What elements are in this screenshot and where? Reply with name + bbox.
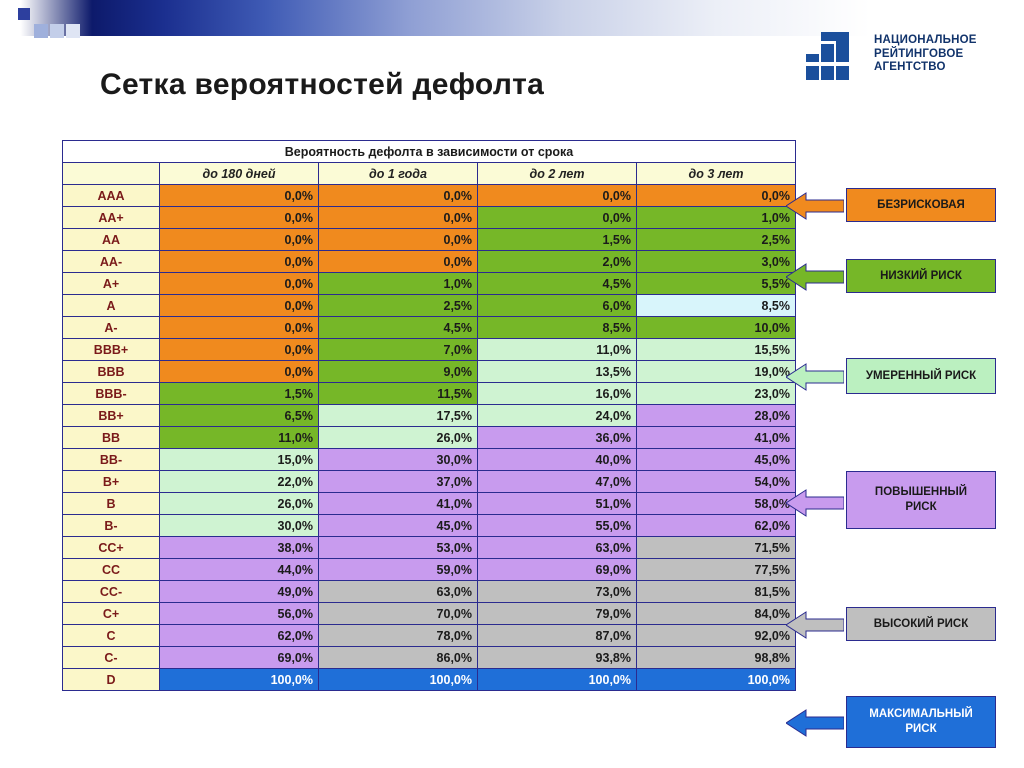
probability-cell: 54,0% xyxy=(637,471,796,493)
probability-cell: 3,0% xyxy=(637,251,796,273)
legend-arrow-icon xyxy=(786,262,844,292)
probability-cell: 36,0% xyxy=(478,427,637,449)
probability-cell: 0,0% xyxy=(160,251,319,273)
probability-cell: 100,0% xyxy=(319,669,478,691)
rating-cell: CC- xyxy=(63,581,160,603)
probability-cell: 100,0% xyxy=(160,669,319,691)
probability-cell: 11,5% xyxy=(319,383,478,405)
probability-cell: 58,0% xyxy=(637,493,796,515)
rating-cell: BBB+ xyxy=(63,339,160,361)
rating-cell: CC+ xyxy=(63,537,160,559)
probability-cell: 81,5% xyxy=(637,581,796,603)
table-row: AA+0,0%0,0%0,0%1,0% xyxy=(63,207,796,229)
legend-label: БЕЗРИСКОВАЯ xyxy=(877,198,965,213)
legend-arrow-icon xyxy=(786,191,844,221)
probability-cell: 26,0% xyxy=(319,427,478,449)
decor-square-3 xyxy=(50,24,64,38)
legend-label: МАКСИМАЛЬНЫЙРИСК xyxy=(869,707,973,737)
probability-cell: 0,0% xyxy=(478,207,637,229)
table-row: CC44,0%59,0%69,0%77,5% xyxy=(63,559,796,581)
rating-cell: C xyxy=(63,625,160,647)
probability-cell: 11,0% xyxy=(478,339,637,361)
probability-cell: 30,0% xyxy=(160,515,319,537)
probability-cell: 51,0% xyxy=(478,493,637,515)
probability-cell: 73,0% xyxy=(478,581,637,603)
table-row: B+22,0%37,0%47,0%54,0% xyxy=(63,471,796,493)
probability-cell: 63,0% xyxy=(319,581,478,603)
table-row: A-0,0%4,5%8,5%10,0% xyxy=(63,317,796,339)
probability-cell: 1,5% xyxy=(478,229,637,251)
legend-arrow-icon xyxy=(786,707,844,739)
table-header-row: до 180 днейдо 1 годадо 2 летдо 3 лет xyxy=(63,163,796,185)
table-row: A+0,0%1,0%4,5%5,5% xyxy=(63,273,796,295)
probability-cell: 55,0% xyxy=(478,515,637,537)
default-probability-table-wrap: Вероятность дефолта в зависимости от сро… xyxy=(62,140,796,691)
rating-cell: AA- xyxy=(63,251,160,273)
probability-cell: 24,0% xyxy=(478,405,637,427)
default-probability-table: Вероятность дефолта в зависимости от сро… xyxy=(62,140,796,691)
probability-cell: 0,0% xyxy=(160,361,319,383)
probability-cell: 7,0% xyxy=(319,339,478,361)
probability-cell: 44,0% xyxy=(160,559,319,581)
logo-line-2: РЕЙТИНГОВОЕ xyxy=(874,48,977,62)
probability-cell: 78,0% xyxy=(319,625,478,647)
rating-cell: AA+ xyxy=(63,207,160,229)
rating-cell: A- xyxy=(63,317,160,339)
table-row: CC-49,0%63,0%73,0%81,5% xyxy=(63,581,796,603)
decor-square-1 xyxy=(18,8,30,20)
column-header-2: до 1 года xyxy=(319,163,478,185)
probability-cell: 8,5% xyxy=(637,295,796,317)
probability-cell: 11,0% xyxy=(160,427,319,449)
probability-cell: 4,5% xyxy=(478,273,637,295)
probability-cell: 15,0% xyxy=(160,449,319,471)
probability-cell: 79,0% xyxy=(478,603,637,625)
decor-square-2 xyxy=(34,24,48,38)
probability-cell: 0,0% xyxy=(160,295,319,317)
probability-cell: 2,5% xyxy=(637,229,796,251)
probability-cell: 19,0% xyxy=(637,361,796,383)
probability-cell: 1,0% xyxy=(637,207,796,229)
probability-cell: 23,0% xyxy=(637,383,796,405)
legend-item-4: ПОВЫШЕННЫЙРИСК xyxy=(846,471,996,529)
probability-cell: 69,0% xyxy=(478,559,637,581)
legend-arrow-icon xyxy=(786,488,844,518)
probability-cell: 4,5% xyxy=(319,317,478,339)
legend-item-2: НИЗКИЙ РИСК xyxy=(846,259,996,293)
logo-line-3: АГЕНТСТВО xyxy=(874,61,977,75)
probability-cell: 28,0% xyxy=(637,405,796,427)
probability-cell: 0,0% xyxy=(160,273,319,295)
rating-cell: BBB xyxy=(63,361,160,383)
probability-cell: 45,0% xyxy=(319,515,478,537)
legend-item-6: МАКСИМАЛЬНЫЙРИСК xyxy=(846,696,996,748)
probability-cell: 100,0% xyxy=(637,669,796,691)
legend-arrow-icon xyxy=(786,362,844,392)
legend-label: ВЫСОКИЙ РИСК xyxy=(874,617,969,632)
probability-cell: 62,0% xyxy=(160,625,319,647)
legend-label: УМЕРЕННЫЙ РИСК xyxy=(866,369,976,384)
probability-cell: 41,0% xyxy=(319,493,478,515)
probability-cell: 1,0% xyxy=(319,273,478,295)
table-row: BB11,0%26,0%36,0%41,0% xyxy=(63,427,796,449)
table-row: CC+38,0%53,0%63,0%71,5% xyxy=(63,537,796,559)
legend-label: ПОВЫШЕННЫЙРИСК xyxy=(875,485,967,515)
probability-cell: 98,8% xyxy=(637,647,796,669)
probability-cell: 37,0% xyxy=(319,471,478,493)
table-row: A0,0%2,5%6,0%8,5% xyxy=(63,295,796,317)
rating-column-header xyxy=(63,163,160,185)
probability-cell: 16,0% xyxy=(478,383,637,405)
probability-cell: 15,5% xyxy=(637,339,796,361)
page-title: Сетка вероятностей дефолта xyxy=(100,68,544,102)
table-row: AA0,0%0,0%1,5%2,5% xyxy=(63,229,796,251)
table-row: BBB+0,0%7,0%11,0%15,5% xyxy=(63,339,796,361)
rating-cell: B- xyxy=(63,515,160,537)
table-row: AAA0,0%0,0%0,0%0,0% xyxy=(63,185,796,207)
probability-cell: 6,5% xyxy=(160,405,319,427)
logo-bars-icon xyxy=(806,32,862,82)
table-row: B-30,0%45,0%55,0%62,0% xyxy=(63,515,796,537)
probability-cell: 0,0% xyxy=(160,185,319,207)
agency-logo: НАЦИОНАЛЬНОЕ РЕЙТИНГОВОЕ АГЕНТСТВО xyxy=(806,30,1016,90)
probability-cell: 86,0% xyxy=(319,647,478,669)
probability-cell: 63,0% xyxy=(478,537,637,559)
probability-cell: 5,5% xyxy=(637,273,796,295)
rating-cell: BBB- xyxy=(63,383,160,405)
rating-cell: B xyxy=(63,493,160,515)
legend-item-1: БЕЗРИСКОВАЯ xyxy=(846,188,996,222)
probability-cell: 30,0% xyxy=(319,449,478,471)
table-row: BB-15,0%30,0%40,0%45,0% xyxy=(63,449,796,471)
probability-cell: 8,5% xyxy=(478,317,637,339)
probability-cell: 62,0% xyxy=(637,515,796,537)
table-caption-row: Вероятность дефолта в зависимости от сро… xyxy=(63,141,796,163)
probability-cell: 0,0% xyxy=(160,317,319,339)
table-row: C-69,0%86,0%93,8%98,8% xyxy=(63,647,796,669)
rating-cell: CC xyxy=(63,559,160,581)
probability-cell: 77,5% xyxy=(637,559,796,581)
rating-cell: C+ xyxy=(63,603,160,625)
probability-cell: 22,0% xyxy=(160,471,319,493)
probability-cell: 0,0% xyxy=(637,185,796,207)
probability-cell: 0,0% xyxy=(160,229,319,251)
probability-cell: 45,0% xyxy=(637,449,796,471)
probability-cell: 0,0% xyxy=(319,229,478,251)
column-header-3: до 2 лет xyxy=(478,163,637,185)
rating-cell: AAA xyxy=(63,185,160,207)
probability-cell: 10,0% xyxy=(637,317,796,339)
probability-cell: 0,0% xyxy=(160,207,319,229)
decor-square-4 xyxy=(66,24,80,38)
probability-cell: 92,0% xyxy=(637,625,796,647)
probability-cell: 13,5% xyxy=(478,361,637,383)
logo-line-1: НАЦИОНАЛЬНОЕ xyxy=(874,34,977,48)
legend-label: НИЗКИЙ РИСК xyxy=(880,269,962,284)
table-row: C+56,0%70,0%79,0%84,0% xyxy=(63,603,796,625)
probability-cell: 9,0% xyxy=(319,361,478,383)
rating-cell: A xyxy=(63,295,160,317)
rating-cell: BB- xyxy=(63,449,160,471)
probability-cell: 6,0% xyxy=(478,295,637,317)
table-row: BB+6,5%17,5%24,0%28,0% xyxy=(63,405,796,427)
probability-cell: 53,0% xyxy=(319,537,478,559)
table-row: C62,0%78,0%87,0%92,0% xyxy=(63,625,796,647)
probability-cell: 38,0% xyxy=(160,537,319,559)
probability-cell: 71,5% xyxy=(637,537,796,559)
probability-cell: 100,0% xyxy=(478,669,637,691)
probability-cell: 0,0% xyxy=(319,251,478,273)
probability-cell: 59,0% xyxy=(319,559,478,581)
probability-cell: 2,5% xyxy=(319,295,478,317)
probability-cell: 0,0% xyxy=(319,207,478,229)
rating-cell: B+ xyxy=(63,471,160,493)
rating-cell: A+ xyxy=(63,273,160,295)
table-row: AA-0,0%0,0%2,0%3,0% xyxy=(63,251,796,273)
probability-cell: 70,0% xyxy=(319,603,478,625)
rating-cell: AA xyxy=(63,229,160,251)
rating-cell: BB+ xyxy=(63,405,160,427)
legend-arrow-icon xyxy=(786,610,844,640)
logo-text: НАЦИОНАЛЬНОЕ РЕЙТИНГОВОЕ АГЕНТСТВО xyxy=(874,34,977,75)
table-row: B26,0%41,0%51,0%58,0% xyxy=(63,493,796,515)
probability-cell: 47,0% xyxy=(478,471,637,493)
probability-cell: 40,0% xyxy=(478,449,637,471)
probability-cell: 1,5% xyxy=(160,383,319,405)
probability-cell: 56,0% xyxy=(160,603,319,625)
rating-cell: BB xyxy=(63,427,160,449)
probability-cell: 2,0% xyxy=(478,251,637,273)
probability-cell: 17,5% xyxy=(319,405,478,427)
probability-cell: 26,0% xyxy=(160,493,319,515)
column-header-4: до 3 лет xyxy=(637,163,796,185)
probability-cell: 49,0% xyxy=(160,581,319,603)
probability-cell: 41,0% xyxy=(637,427,796,449)
table-row: BBB0,0%9,0%13,5%19,0% xyxy=(63,361,796,383)
column-header-1: до 180 дней xyxy=(160,163,319,185)
legend-item-5: ВЫСОКИЙ РИСК xyxy=(846,607,996,641)
table-row: BBB-1,5%11,5%16,0%23,0% xyxy=(63,383,796,405)
table-caption: Вероятность дефолта в зависимости от сро… xyxy=(63,141,796,163)
legend-item-3: УМЕРЕННЫЙ РИСК xyxy=(846,358,996,394)
rating-cell: C- xyxy=(63,647,160,669)
rating-cell: D xyxy=(63,669,160,691)
probability-cell: 0,0% xyxy=(319,185,478,207)
probability-cell: 87,0% xyxy=(478,625,637,647)
probability-cell: 0,0% xyxy=(160,339,319,361)
probability-cell: 0,0% xyxy=(478,185,637,207)
probability-cell: 69,0% xyxy=(160,647,319,669)
table-row: D100,0%100,0%100,0%100,0% xyxy=(63,669,796,691)
probability-cell: 93,8% xyxy=(478,647,637,669)
probability-cell: 84,0% xyxy=(637,603,796,625)
